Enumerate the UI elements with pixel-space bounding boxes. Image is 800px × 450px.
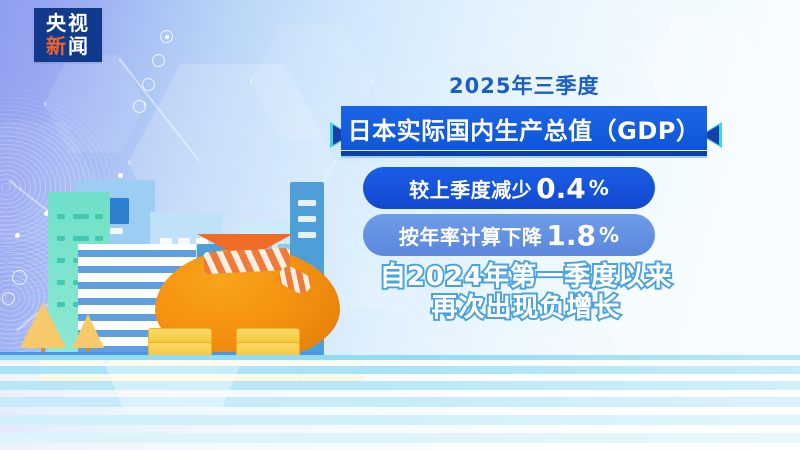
dot-ring-2 (152, 54, 165, 67)
stat-unit-2: % (599, 223, 619, 247)
stat-unit-1: % (589, 176, 609, 200)
dot-ring-4 (133, 100, 146, 113)
gdp-bar-underline (341, 156, 707, 158)
gdp-title-bar-group: 日本实际国内生产总值（GDP） (330, 106, 722, 164)
conclusion-line-1: 自2024年第一季度以来 (330, 262, 722, 293)
stat-value-2: 1.8 (546, 219, 596, 252)
conclusion-text-block: 自2024年第一季度以来 再次出现负增长 自2024年第一季度以来 再次出现负增… (330, 262, 722, 332)
stat-label-2: 按年率计算下降 (399, 221, 543, 250)
dot-ring-1 (160, 30, 173, 43)
logo-rest-char: 闻 (68, 34, 90, 58)
conclusion-line-2: 再次出现负增长 (330, 293, 722, 324)
dot-ring-3 (142, 78, 155, 91)
logo-line-1: 央视 (46, 12, 90, 35)
stat-quarter-on-quarter: 较上季度减少 0.4 % (363, 167, 655, 209)
money-bag-tie (203, 248, 290, 274)
water-fade-right (380, 355, 800, 450)
gdp-title-bar: 日本实际国内生产总值（GDP） (341, 106, 707, 150)
infographic-stage: 央视 新闻 2025年三季度 日本实际国内生产总值（GDP） 较上季度减少 0.… (0, 0, 800, 450)
cctv-news-logo[interactable]: 央视 新闻 (34, 8, 102, 62)
stat-annualized: 按年率计算下降 1.8 % (363, 214, 655, 256)
logo-line-2: 新闻 (46, 35, 90, 58)
stat-label-1: 较上季度减少 (409, 174, 532, 203)
conclusion-fill: 自2024年第一季度以来 再次出现负增长 (330, 262, 722, 324)
kicker-text: 2025年三季度 (449, 70, 599, 100)
logo-accent-char: 新 (46, 34, 68, 58)
stat-value-1: 0.4 (536, 172, 586, 205)
boat-shape (105, 366, 240, 410)
